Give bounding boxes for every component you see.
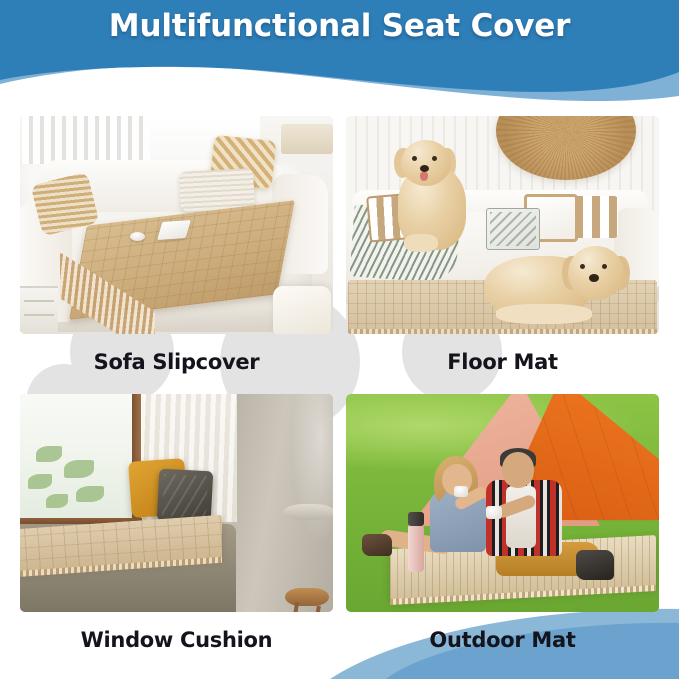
panel-caption: Sofa Slipcover [20,350,333,374]
photo-outdoor-mat [346,394,659,612]
infographic-page: Multifunctional Seat Cover [0,0,679,679]
panel-window-cushion[interactable]: Window Cushion [20,394,333,652]
panel-sofa-slipcover[interactable]: Sofa Slipcover [20,116,333,374]
panel-grid: Sofa Slipcover [20,116,659,661]
photo-window-cushion [20,394,333,612]
photo-floor-mat [346,116,659,334]
header-banner: Multifunctional Seat Cover [0,0,679,112]
page-title: Multifunctional Seat Cover [0,8,679,44]
panel-floor-mat[interactable]: Floor Mat [346,116,659,374]
panel-caption: Window Cushion [20,628,333,652]
panel-caption: Floor Mat [346,350,659,374]
photo-sofa-slipcover [20,116,333,334]
panel-outdoor-mat[interactable]: Outdoor Mat [346,394,659,652]
panel-caption: Outdoor Mat [346,628,659,652]
